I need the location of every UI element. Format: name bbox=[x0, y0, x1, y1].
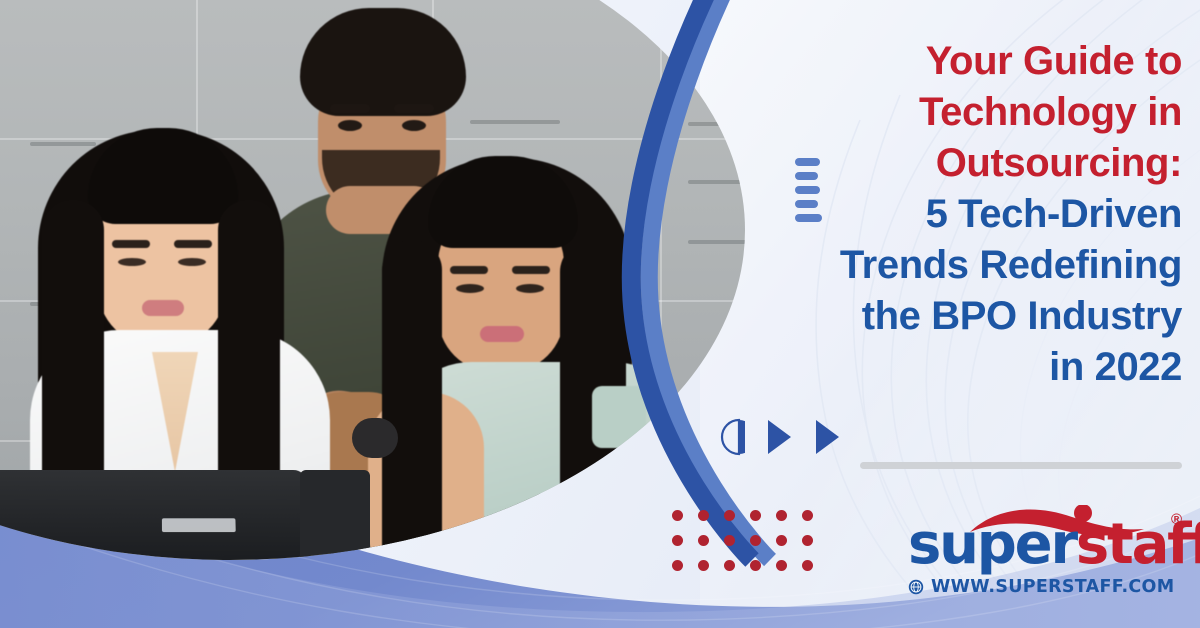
grid-dot bbox=[698, 560, 709, 571]
grid-dot bbox=[698, 510, 709, 521]
bar-1 bbox=[795, 158, 820, 166]
triangle-icon-2 bbox=[813, 418, 841, 456]
grid-dot bbox=[724, 510, 735, 521]
headline-line-5: Trends Redefining bbox=[782, 240, 1182, 291]
half-circle-icon bbox=[715, 418, 745, 456]
registered-trademark-icon: ® bbox=[1171, 511, 1182, 528]
grid-dot bbox=[776, 535, 787, 546]
grid-dot bbox=[724, 560, 735, 571]
logo-url-text: WWW.SUPERSTAFF.COM bbox=[931, 577, 1174, 597]
page-title: Your Guide to Technology in Outsourcing:… bbox=[782, 36, 1182, 393]
grid-dot bbox=[750, 535, 761, 546]
grid-dot bbox=[750, 560, 761, 571]
headline-line-6: the BPO Industry bbox=[782, 291, 1182, 342]
bar-4 bbox=[795, 200, 818, 208]
play-arrows-decoration bbox=[715, 418, 841, 456]
grid-dot bbox=[750, 510, 761, 521]
banner-graphic: Your Guide to Technology in Outsourcing:… bbox=[0, 0, 1200, 628]
grid-dot bbox=[802, 535, 813, 546]
bar-2 bbox=[795, 172, 818, 180]
mouse bbox=[352, 418, 398, 458]
headline-line-2: Technology in bbox=[782, 87, 1182, 138]
bar-5 bbox=[795, 214, 822, 222]
grid-dot bbox=[672, 510, 683, 521]
bar-3 bbox=[795, 186, 820, 194]
logo-text-super: super bbox=[908, 512, 1076, 577]
horizontal-divider bbox=[860, 462, 1182, 469]
grid-dot bbox=[802, 510, 813, 521]
red-dot-grid bbox=[672, 510, 828, 585]
logo-url[interactable]: WWW.SUPERSTAFF.COM bbox=[908, 577, 1174, 597]
grid-dot bbox=[776, 510, 787, 521]
laptop bbox=[0, 470, 313, 560]
grid-dot bbox=[672, 560, 683, 571]
grid-dot bbox=[698, 535, 709, 546]
logo-wordmark: superstaff bbox=[908, 517, 1200, 573]
headline-line-3: Outsourcing: bbox=[782, 138, 1182, 189]
grid-dot bbox=[802, 560, 813, 571]
headline-line-1: Your Guide to bbox=[782, 36, 1182, 87]
stacked-bars-decoration bbox=[795, 158, 822, 228]
grid-dot bbox=[724, 535, 735, 546]
grid-dot bbox=[776, 560, 787, 571]
superstaff-logo[interactable]: superstaff ® WWW.SUPERSTAFF.COM bbox=[884, 503, 1184, 595]
hero-photo bbox=[0, 0, 790, 560]
grid-dot bbox=[672, 535, 683, 546]
laptop-edge bbox=[300, 470, 370, 560]
globe-icon bbox=[908, 579, 924, 595]
headline-line-7: in 2022 bbox=[782, 342, 1182, 393]
triangle-icon-1 bbox=[765, 418, 793, 456]
headline-line-4: 5 Tech-Driven bbox=[782, 189, 1182, 240]
